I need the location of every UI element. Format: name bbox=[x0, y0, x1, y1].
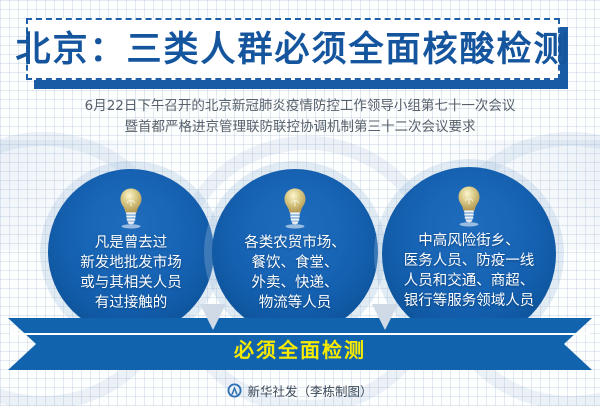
group-circle-3: 中高风险街乡、 医务人员、防疫一线 人员和交通、商超、 银行等服务领域人员 bbox=[382, 167, 556, 341]
credit-text: 新华社发（李栋制图） bbox=[247, 381, 372, 400]
group-3-line-1: 中高风险街乡、 bbox=[404, 231, 535, 251]
banner-divider-rule bbox=[10, 333, 590, 335]
group-1-line-3: 或与其相关人员 bbox=[80, 273, 182, 293]
group-1-line-4: 有过接触的 bbox=[80, 293, 182, 313]
banner-notch-right bbox=[372, 304, 398, 330]
group-2-line-3: 外卖、快递、 bbox=[244, 273, 346, 293]
group-circle-1: 凡是曾去过 新发地批发市场 或与其相关人员 有过接触的 bbox=[48, 169, 214, 335]
credit-line: 新华社发（李栋制图） bbox=[0, 381, 600, 400]
group-circle-2: 各类农贸市场、 餐饮、食堂、 外卖、快递、 物流等人员 bbox=[212, 169, 378, 335]
banner-notch-left bbox=[200, 304, 226, 330]
conclusion-banner-label: 必须全面检测 bbox=[0, 336, 600, 364]
group-3-line-2: 医务人员、防疫一线 bbox=[404, 251, 535, 271]
infographic-poster: 北京：三类人群必须全面核酸检测 6月22日下午召开的北京新冠肺炎疫情防控工作领导… bbox=[0, 0, 600, 406]
group-3-line-3: 人员和交通、商超、 bbox=[404, 271, 535, 291]
xinhua-logo-icon bbox=[227, 383, 242, 398]
lightbulb-icon bbox=[456, 185, 482, 227]
group-2-line-1: 各类农贸市场、 bbox=[244, 233, 346, 253]
group-2-line-2: 餐饮、食堂、 bbox=[244, 253, 346, 273]
group-1-line-1: 凡是曾去过 bbox=[80, 233, 182, 253]
lightbulb-icon bbox=[118, 187, 144, 229]
group-3-line-4: 银行等服务领域人员 bbox=[404, 291, 535, 311]
lightbulb-icon bbox=[282, 187, 308, 229]
group-1-line-2: 新发地批发市场 bbox=[80, 253, 182, 273]
group-circle-2-text: 各类农贸市场、 餐饮、食堂、 外卖、快递、 物流等人员 bbox=[244, 233, 346, 313]
group-2-line-4: 物流等人员 bbox=[244, 293, 346, 313]
group-circle-3-text: 中高风险街乡、 医务人员、防疫一线 人员和交通、商超、 银行等服务领域人员 bbox=[404, 231, 535, 311]
group-circle-1-text: 凡是曾去过 新发地批发市场 或与其相关人员 有过接触的 bbox=[80, 233, 182, 313]
